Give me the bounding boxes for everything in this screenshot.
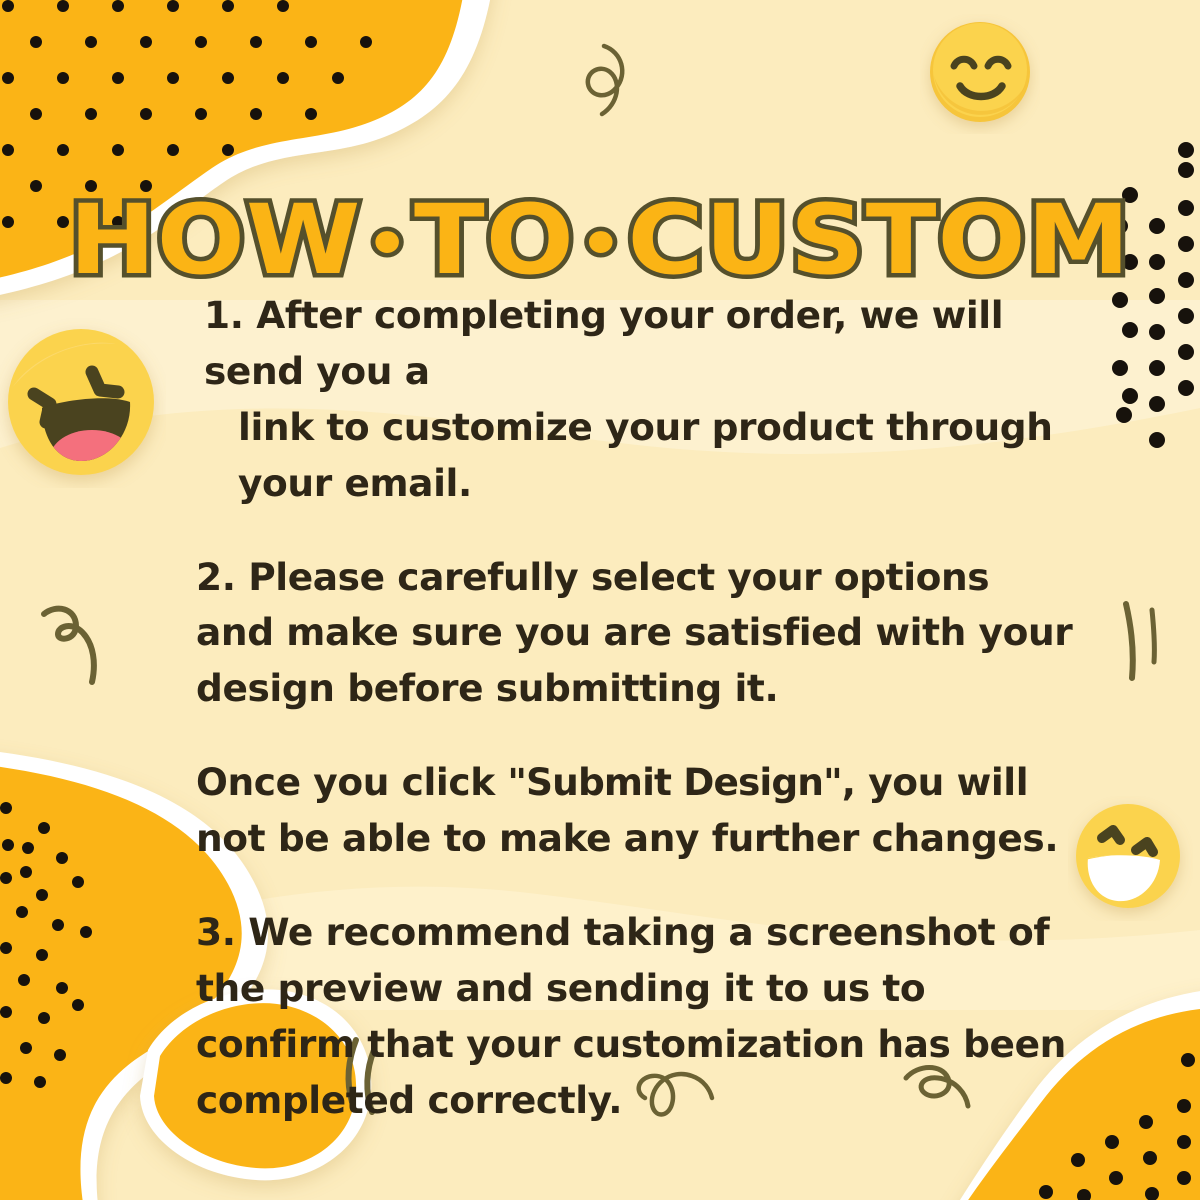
instruction-submit-warning: Once you click "Submit Design", you will… — [196, 755, 1076, 867]
title-separator-2: • — [575, 207, 628, 280]
title-separator-1: • — [361, 207, 414, 280]
title-word-custom: CUSTOM — [628, 184, 1131, 296]
instructions-list: 1. After completing your order, we will … — [196, 288, 1076, 1128]
instruction-step-2: 2. Please carefully select your options … — [196, 550, 1076, 718]
submit-design-emphasis: "Submit Design" — [507, 760, 841, 804]
step-1-line-2: link to customize your product through y… — [204, 400, 1076, 512]
page-title: HOW•TO•CUSTOM — [0, 192, 1200, 288]
step-2-text: 2. Please carefully select your options … — [196, 555, 1072, 711]
instruction-step-1: 1. After completing your order, we will … — [196, 288, 1076, 512]
step-3-text: 3. We recommend taking a screenshot of t… — [196, 910, 1066, 1122]
step-1-line-1: 1. After completing your order, we will … — [204, 293, 1003, 393]
instruction-step-3: 3. We recommend taking a screenshot of t… — [196, 905, 1076, 1129]
title-word-to: TO — [414, 184, 575, 296]
poster-canvas: HOW•TO•CUSTOM 1. After completing your o… — [0, 0, 1200, 1200]
title-word-how: HOW — [69, 184, 362, 296]
poster-content: HOW•TO•CUSTOM 1. After completing your o… — [0, 0, 1200, 1200]
submit-warning-before: Once you click — [196, 760, 507, 804]
